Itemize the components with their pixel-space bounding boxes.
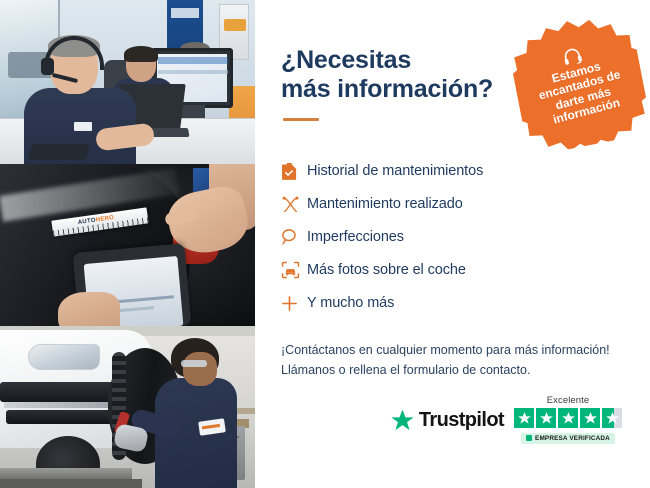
title-line-2: más información?: [281, 75, 493, 103]
photo-call-center: [0, 0, 255, 164]
document-check-icon: [281, 162, 307, 181]
paragraph-line-2: Llámanos o rellena el formulario de cont…: [281, 360, 622, 380]
feature-item-much-more: Y mucho más: [281, 287, 622, 320]
feature-label: Historial de mantenimientos: [307, 163, 483, 179]
car-frame-icon: [281, 261, 307, 279]
rating-label: Excelente: [514, 395, 622, 406]
feature-label: Imperfecciones: [307, 229, 404, 245]
feature-list: Historial de mantenimientos Mantenimient…: [281, 155, 622, 320]
promo-card: AUTOHERO: [0, 0, 650, 488]
feature-item-maintenance-done: Mantenimiento realizado: [281, 188, 622, 221]
star-2: [536, 408, 556, 428]
photo-car-inspection: AUTOHERO: [0, 164, 255, 326]
trustpilot-logo[interactable]: Trustpilot: [390, 409, 504, 433]
monitor-content-row: [158, 57, 228, 64]
plus-icon: [281, 295, 307, 312]
star-5-partial: [602, 408, 622, 428]
star-rating: [514, 408, 622, 428]
tools-cross-icon: [281, 195, 307, 214]
feature-label: Mantenimiento realizado: [307, 196, 463, 212]
verified-label: EMPRESA VERIFICADA: [535, 435, 610, 442]
chrome-trim: [4, 402, 122, 408]
star-3: [558, 408, 578, 428]
magnifier-icon: [281, 228, 307, 246]
feature-item-maintenance-history: Historial de mantenimientos: [281, 155, 622, 188]
photo-column: AUTOHERO: [0, 0, 255, 488]
desk-tablet: [28, 144, 91, 160]
check-icon: [526, 435, 532, 441]
hand-holding-tablet: [58, 292, 120, 326]
lift-base: [0, 479, 142, 488]
trustpilot-score-block: Excelente EMPRESA VERIFICADA: [514, 395, 622, 446]
star-1: [514, 408, 534, 428]
mechanic: [151, 338, 237, 488]
lower-grille: [6, 410, 118, 424]
name-badge: [74, 122, 92, 131]
safety-glasses: [181, 360, 207, 367]
feature-label: Más fotos sobre el coche: [307, 262, 466, 278]
star-4: [580, 408, 600, 428]
page-title: ¿Necesitas más información?: [281, 46, 511, 105]
verified-badge: EMPRESA VERIFICADA: [521, 433, 615, 444]
support-badge: Estamos encantados de darte más informac…: [505, 9, 650, 157]
trustpilot-rating[interactable]: Trustpilot Excelente EMPRESA VERIFICADA: [390, 395, 622, 446]
front-grille: [0, 382, 126, 402]
trustpilot-star-icon: [390, 409, 415, 433]
trustpilot-wordmark: Trustpilot: [419, 409, 504, 432]
feature-label: Y mucho más: [307, 295, 394, 311]
feature-item-more-photos: Más fotos sobre el coche: [281, 254, 622, 287]
content-panel: ¿Necesitas más información? Estamos enca…: [255, 0, 650, 488]
contact-paragraph: ¡Contáctanos en cualquier momento para m…: [281, 340, 622, 381]
title-line-1: ¿Necesitas: [281, 46, 411, 74]
title-divider: [283, 118, 319, 121]
feature-item-imperfections: Imperfecciones: [281, 221, 622, 254]
headlight: [28, 344, 100, 370]
paragraph-line-1: ¡Contáctanos en cualquier momento para m…: [281, 340, 622, 360]
photo-wheel-check: [0, 326, 255, 488]
monitor-content-row-2: [158, 70, 228, 74]
